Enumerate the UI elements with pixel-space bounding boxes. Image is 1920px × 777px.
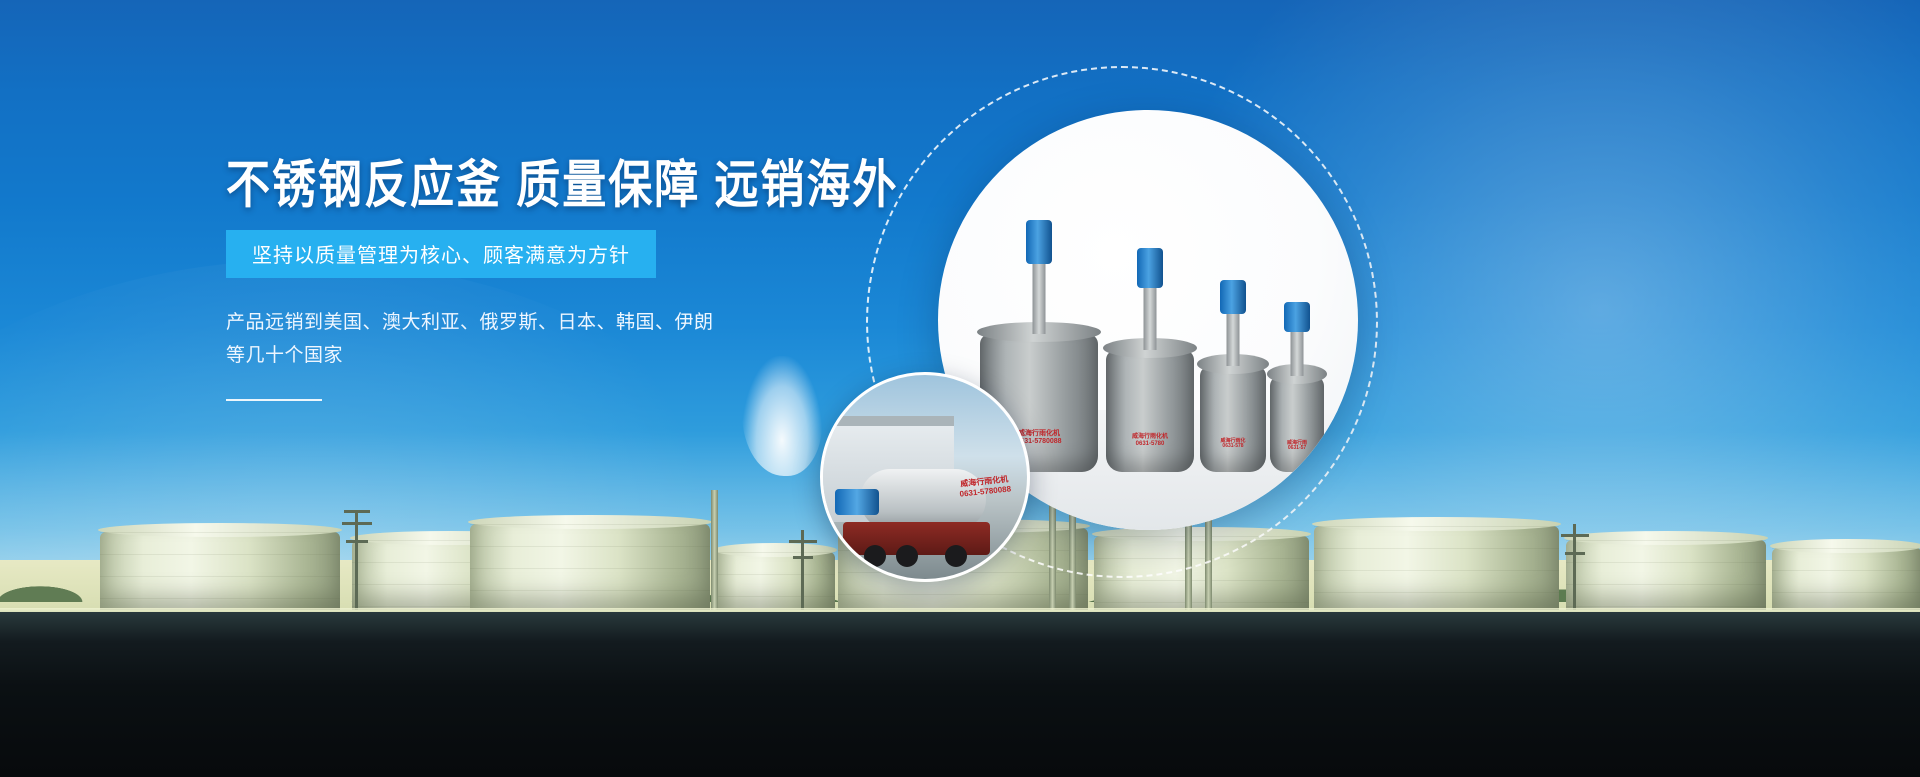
truck-wheel [896,545,918,567]
truck-wheel [945,545,967,567]
description-line-2: 等几十个国家 [226,339,866,372]
reactor-vessel-3: 威海行雨化0631-578 [1200,366,1266,472]
description-line-1: 产品远销到美国、澳大利亚、俄罗斯、日本、韩国、伊朗 [226,306,866,339]
reactor-label-2: 威海行雨化机0631-5780 [1110,434,1191,448]
inset-motor [835,489,879,515]
reactor-motor-4 [1284,302,1310,332]
reactor-label-3: 威海行雨化0631-578 [1203,439,1264,451]
banner-subtitle-text: 坚持以质量管理为核心、顾客满意为方针 [252,245,630,267]
decorative-underline [226,399,322,401]
banner-copy-block: 不锈钢反应釜 质量保障 远销海外 坚持以质量管理为核心、顾客满意为方针 产品远销… [226,160,866,401]
oil-storage-tank [1566,540,1766,610]
oil-storage-tank [1314,526,1559,610]
reactor-vessel-2: 威海行雨化机0631-5780 [1106,350,1194,472]
water-foreground [0,612,1920,777]
reactor-column-4 [1291,332,1304,376]
banner-subtitle-bar: 坚持以质量管理为核心、顾客满意为方针 [226,230,656,278]
oil-storage-tank [470,524,710,610]
plant-stack [711,490,718,610]
reactor-vessel-4: 威海行雨0631-57 [1270,376,1324,472]
banner-description: 产品远销到美国、澳大利亚、俄罗斯、日本、韩国、伊朗 等几十个国家 [226,306,866,373]
reactor-motor-2 [1137,248,1163,288]
transmission-pylon [1560,524,1590,610]
reactor-motor-3 [1220,280,1246,314]
transmission-pylon [340,510,374,610]
oil-storage-tank [1772,548,1920,610]
hero-banner: 威海行雨化机0631-5780088 威海行雨化机0631-5780 威海行雨化… [0,0,1920,777]
reactor-label-4: 威海行雨0631-57 [1272,441,1322,453]
truck-wheel [864,545,886,567]
reactor-column-2 [1144,288,1157,350]
transmission-pylon [788,530,818,610]
oil-storage-tank [100,532,340,610]
reactor-column-3 [1227,314,1240,366]
reactor-motor-1 [1026,220,1052,264]
banner-headline: 不锈钢反应釜 质量保障 远销海外 [226,160,866,212]
reactor-column-1 [1033,264,1046,334]
product-photo-inset-factory: 威海行雨化机0631-5780088 [820,372,1030,582]
inset-reactor-label: 威海行雨化机0631-5780088 [958,474,1011,498]
